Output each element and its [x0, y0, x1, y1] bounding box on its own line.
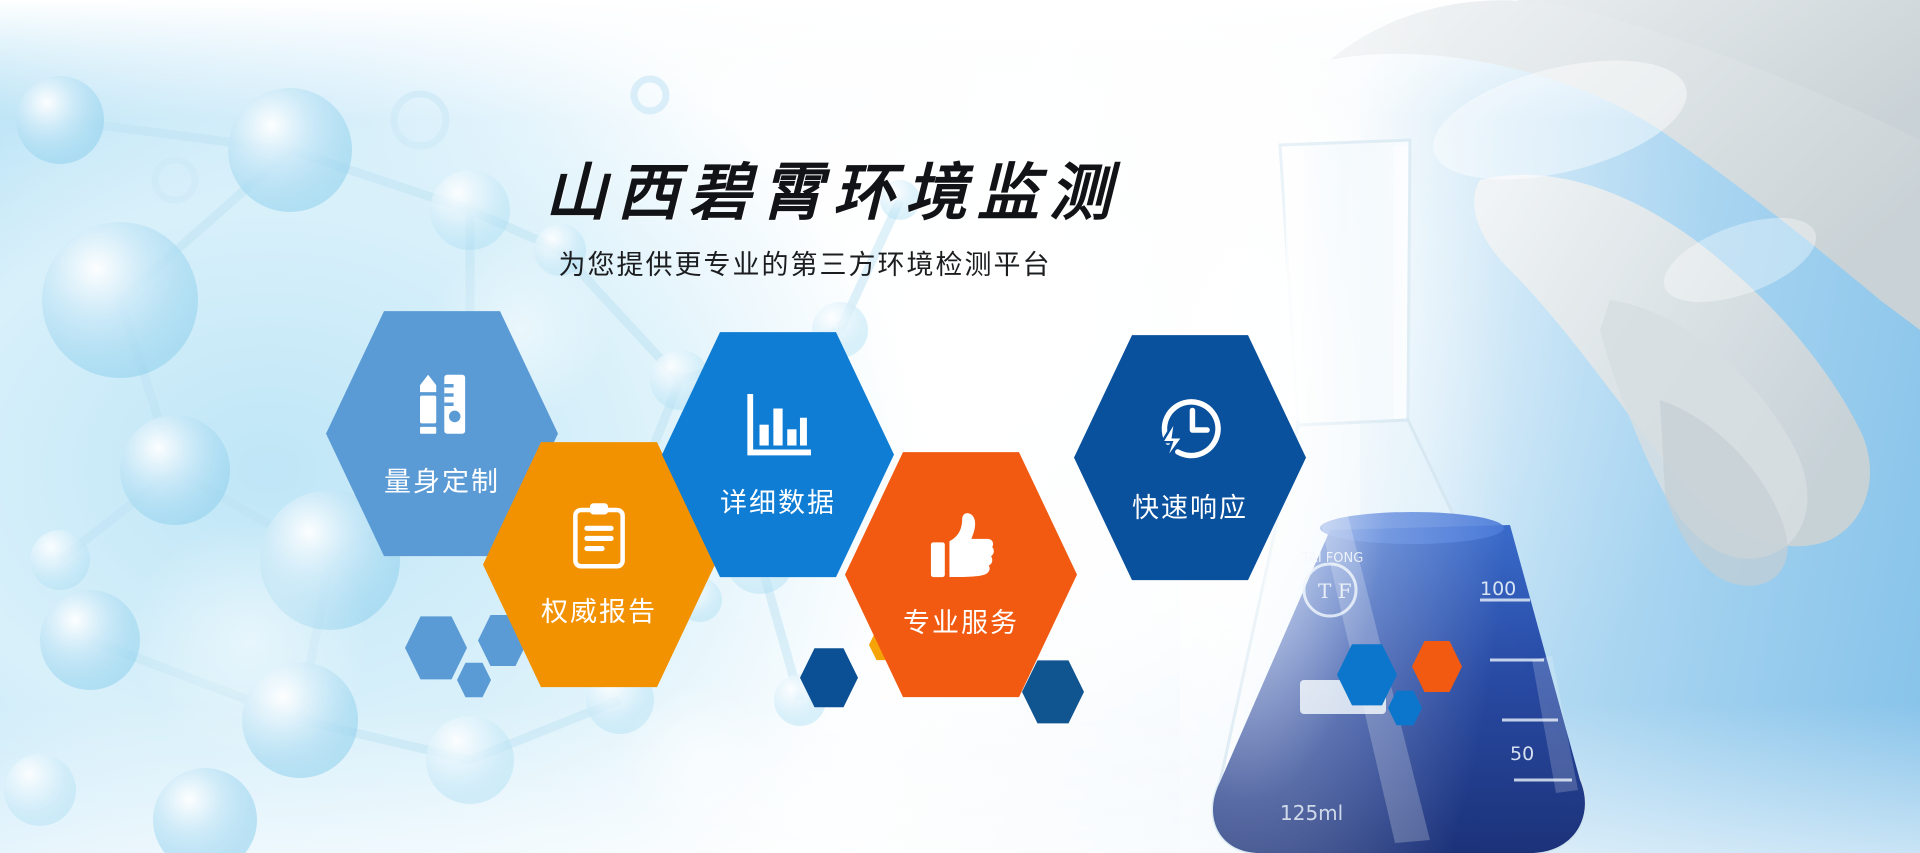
bar-chart-icon [741, 390, 815, 469]
feature-label: 权威报告 [541, 590, 657, 629]
title-block: 山西碧霄环境监测 为您提供更专业的第三方环境检测平台 [545, 160, 1065, 282]
page-title: 山西碧霄环境监测 [545, 160, 1065, 225]
clock-bolt-icon [1151, 391, 1229, 474]
page-subtitle: 为您提供更专业的第三方环境检测平台 [545, 243, 1065, 282]
feature-label: 量身定制 [384, 460, 500, 499]
thumbs-up-icon [924, 510, 998, 589]
clipboard-report-icon [563, 501, 635, 578]
feature-label: 专业服务 [903, 601, 1019, 640]
feature-label: 详细数据 [720, 481, 836, 520]
svg-text:50: 50 [1510, 743, 1534, 765]
promo-banner: 100 50 125ml TAI FONG T F 山西碧霄环境监测 为您提供更… [0, 0, 1920, 853]
ruler-pencil-icon [405, 369, 479, 448]
feature-label: 快速响应 [1132, 486, 1248, 525]
